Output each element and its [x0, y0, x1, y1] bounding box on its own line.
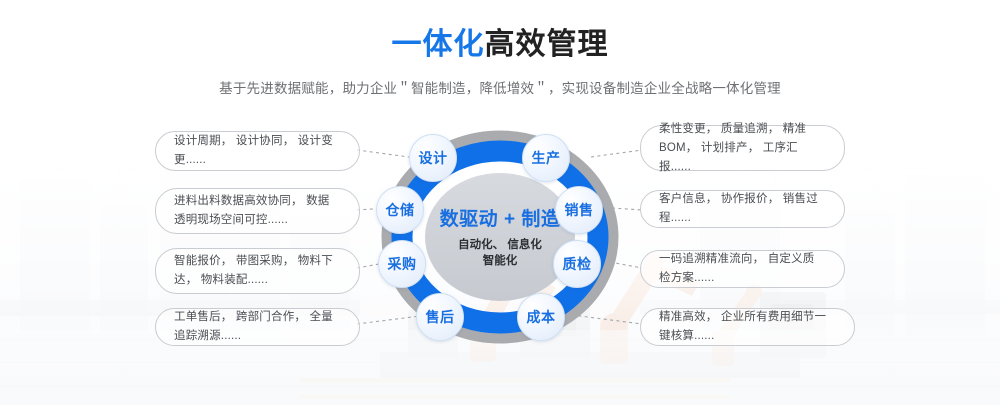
info-card-production[interactable]: 柔性变更， 质量追溯， 精准 BOM， 计划排产， 工序汇报......: [640, 125, 845, 171]
page-title-rest: 高效管理: [485, 28, 609, 61]
wheel-node-warehouse[interactable]: 仓储: [376, 186, 424, 234]
info-card-quality[interactable]: 一码追溯精准流向， 自定义质检方案......: [640, 250, 845, 288]
info-card-purchase[interactable]: 智能报价， 带图采购， 物料下达， 物料装配......: [155, 248, 360, 294]
info-card-design[interactable]: 设计周期， 设计协同， 设计变更......: [155, 131, 360, 171]
info-card-warehouse[interactable]: 进料出料数据高效协同， 数据透明现场空间可控......: [155, 188, 360, 234]
page-subtitle: 基于先进数据赋能，助力企业＂智能制造，降低增效＂，实现设备制造企业全战略一体化管…: [0, 79, 1000, 99]
promo-banner: 一体化高效管理 基于先进数据赋能，助力企业＂智能制造，降低增效＂，实现设备制造企…: [0, 0, 1000, 405]
wheel-node-production[interactable]: 生产: [522, 134, 570, 182]
info-card-sales[interactable]: 客户信息， 协作报价， 销售过程......: [640, 190, 845, 228]
info-card-cost[interactable]: 精准高效， 企业所有费用细节一键核算......: [640, 308, 855, 346]
page-title: 一体化高效管理: [0, 26, 1000, 64]
wheel-node-aftersales[interactable]: 售后: [416, 293, 464, 341]
wheel-node-sales[interactable]: 销售: [555, 186, 603, 234]
wheel-node-quality[interactable]: 质检: [553, 240, 601, 288]
wheel-node-cost[interactable]: 成本: [517, 293, 565, 341]
wheel-hub: [425, 173, 575, 301]
wheel-node-purchase[interactable]: 采购: [378, 240, 426, 288]
info-card-aftersales[interactable]: 工单售后， 跨部门合作， 全量追踪溯源......: [155, 308, 360, 346]
wheel-node-design[interactable]: 设计: [409, 134, 457, 182]
page-title-accent: 一体化: [392, 28, 485, 61]
